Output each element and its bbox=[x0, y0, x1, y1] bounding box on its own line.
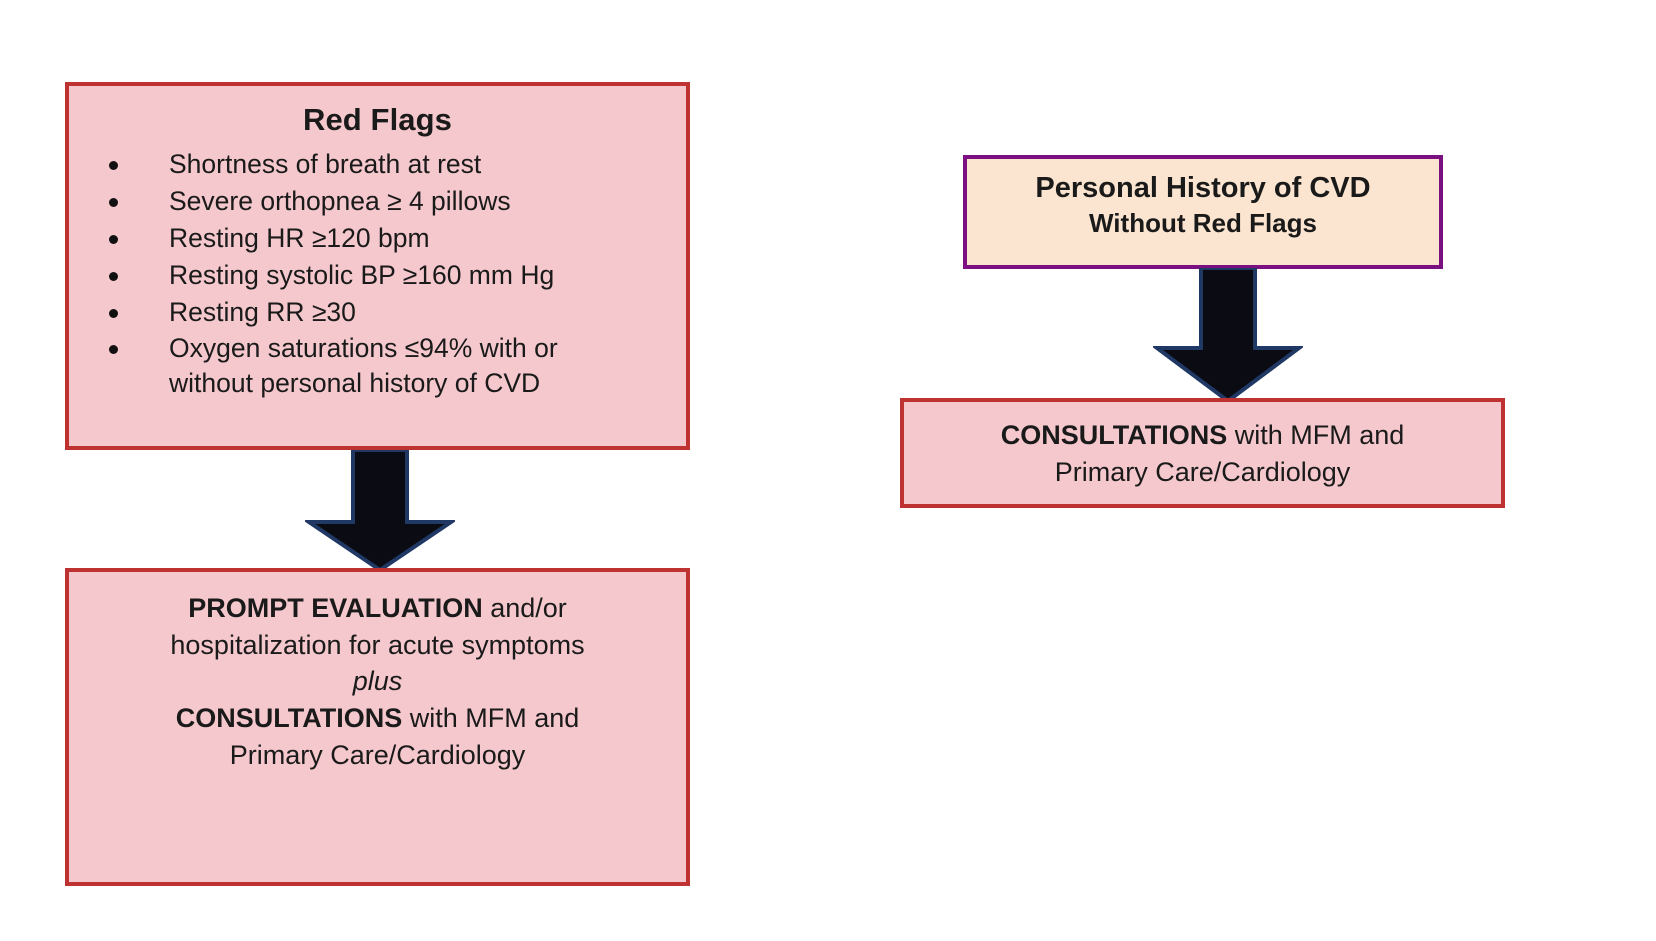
prompt-eval-line-4-rest: with MFM and bbox=[402, 703, 579, 733]
flowchart-canvas: Red Flags Shortness of breath at rest Se… bbox=[0, 0, 1656, 941]
list-item: Resting systolic BP ≥160 mm Hg bbox=[79, 258, 676, 293]
prompt-evaluation-box: PROMPT EVALUATION and/or hospitalization… bbox=[65, 568, 690, 886]
prompt-eval-emphasis: PROMPT EVALUATION bbox=[188, 593, 483, 623]
prompt-eval-line-4: CONSULTATIONS with MFM and bbox=[81, 700, 674, 737]
down-arrow-icon-right bbox=[1153, 268, 1303, 403]
prompt-eval-line-1: PROMPT EVALUATION and/or bbox=[81, 590, 674, 627]
personal-history-line-1: Personal History of CVD bbox=[967, 171, 1439, 207]
red-flags-title: Red Flags bbox=[79, 102, 676, 138]
list-item: Shortness of breath at rest bbox=[79, 147, 676, 182]
prompt-eval-line-2: hospitalization for acute symptoms bbox=[81, 627, 674, 664]
consultations-line-2: Primary Care/Cardiology bbox=[904, 454, 1501, 491]
prompt-eval-plus: plus bbox=[81, 663, 674, 700]
list-item: Oxygen saturations ≤94% with or without … bbox=[79, 331, 676, 401]
prompt-eval-line-1-rest: and/or bbox=[483, 593, 567, 623]
consultations-line-1-rest: with MFM and bbox=[1227, 420, 1404, 450]
consultations-emphasis: CONSULTATIONS bbox=[176, 703, 402, 733]
list-item: Resting HR ≥120 bpm bbox=[79, 221, 676, 256]
list-item: Severe orthopnea ≥ 4 pillows bbox=[79, 184, 676, 219]
red-flags-bullet-list: Shortness of breath at rest Severe ortho… bbox=[79, 147, 676, 402]
prompt-eval-line-5: Primary Care/Cardiology bbox=[81, 737, 674, 774]
personal-history-box: Personal History of CVD Without Red Flag… bbox=[963, 155, 1443, 269]
down-arrow-icon-left bbox=[305, 450, 455, 572]
down-arrow-icon bbox=[305, 450, 455, 572]
consultations-line-1: CONSULTATIONS with MFM and bbox=[904, 417, 1501, 454]
list-item: Resting RR ≥30 bbox=[79, 295, 676, 330]
consultations-box: CONSULTATIONS with MFM and Primary Care/… bbox=[900, 398, 1505, 508]
down-arrow-icon bbox=[1153, 268, 1303, 403]
red-flags-box: Red Flags Shortness of breath at rest Se… bbox=[65, 82, 690, 450]
personal-history-line-2: Without Red Flags bbox=[967, 207, 1439, 239]
consultations-emphasis: CONSULTATIONS bbox=[1001, 420, 1227, 450]
